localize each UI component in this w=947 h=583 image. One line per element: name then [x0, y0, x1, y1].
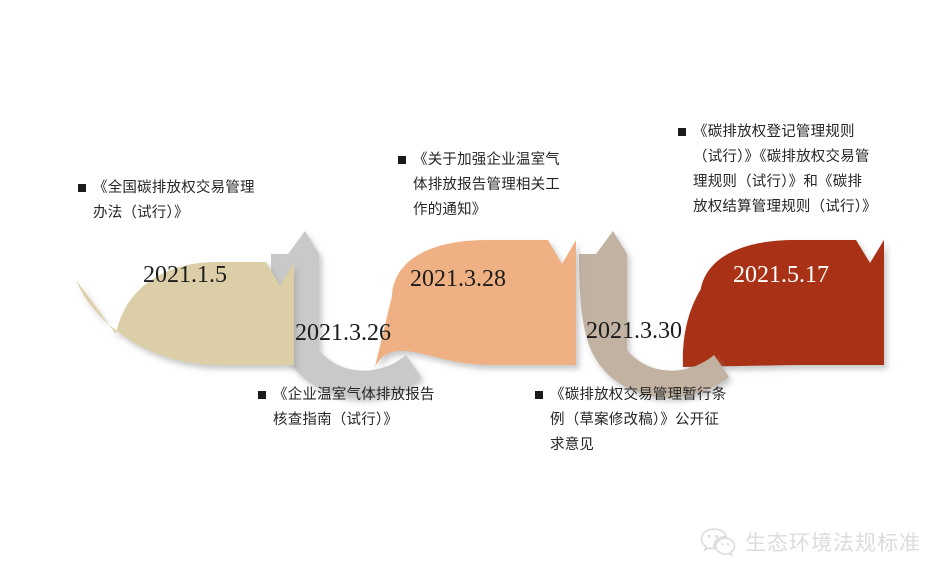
- arrow-3-shape: [375, 240, 576, 367]
- date-label-4: 2021.3.30: [586, 318, 682, 344]
- wechat-icon: [700, 527, 736, 557]
- watermark-text: 生态环境法规标准: [745, 527, 921, 557]
- square-bullet-icon: [258, 391, 266, 399]
- date-label-5: 2021.5.17: [733, 262, 829, 288]
- date-label-1: 2021.1.5: [143, 262, 227, 288]
- arrow-5-shape: [683, 240, 884, 367]
- timeline-arrow-chain: 2021.1.5 2021.3.26 2021.3.28 2021.3.30 2…: [0, 0, 947, 583]
- timeline-arrow-5[interactable]: [681, 240, 884, 372]
- timeline-note-3: 《关于加强企业温室气体排放报告管理相关工作的通知》: [398, 148, 573, 223]
- timeline-note-4: 《碳排放权交易管理暂行条例（草案修改稿）》公开征求意见: [535, 383, 730, 458]
- watermark: 生态环境法规标准: [700, 527, 921, 557]
- timeline-note-5-text: 《碳排放权登记管理规则（试行）》《碳排放权交易管理规则（试行）》和《碳排放权结算…: [693, 120, 873, 220]
- timeline-note-1: 《全国碳排放权交易管理办法（试行）》: [78, 176, 263, 226]
- timeline-note-2: 《企业温室气体排放报告核查指南（试行）》: [258, 383, 448, 433]
- timeline-note-2-text: 《企业温室气体排放报告核查指南（试行）》: [273, 383, 448, 433]
- square-bullet-icon: [78, 184, 86, 192]
- square-bullet-icon: [678, 128, 686, 136]
- date-label-2: 2021.3.26: [295, 320, 391, 346]
- timeline-arrow-3[interactable]: [375, 240, 576, 367]
- square-bullet-icon: [398, 156, 406, 164]
- timeline-note-3-text: 《关于加强企业温室气体排放报告管理相关工作的通知》: [413, 148, 573, 223]
- date-label-3: 2021.3.28: [410, 266, 506, 292]
- timeline-note-1-text: 《全国碳排放权交易管理办法（试行）》: [93, 176, 263, 226]
- square-bullet-icon: [535, 391, 543, 399]
- timeline-note-5: 《碳排放权登记管理规则（试行）》《碳排放权交易管理规则（试行）》和《碳排放权结算…: [678, 120, 873, 220]
- infographic-canvas: 2021.1.5 2021.3.26 2021.3.28 2021.3.30 2…: [0, 0, 947, 583]
- timeline-note-4-text: 《碳排放权交易管理暂行条例（草案修改稿）》公开征求意见: [550, 383, 730, 458]
